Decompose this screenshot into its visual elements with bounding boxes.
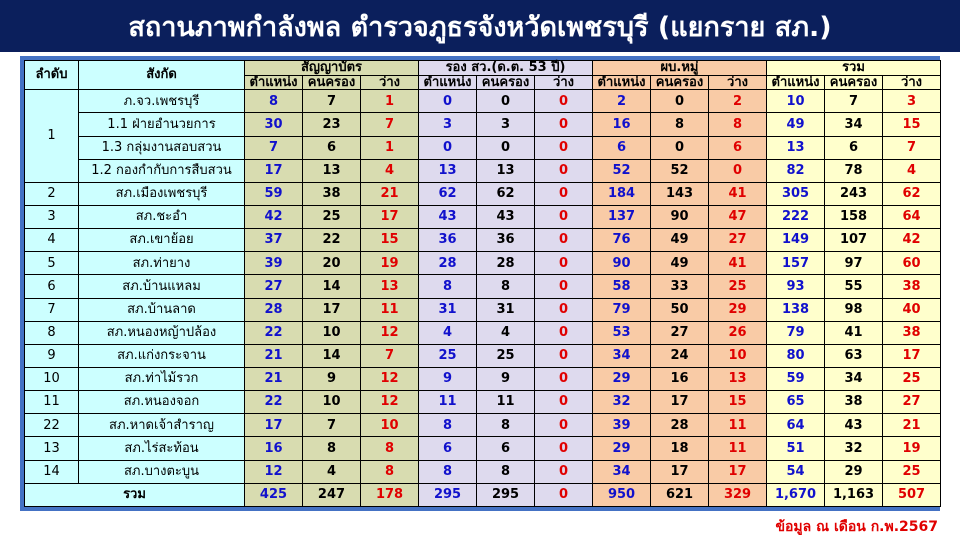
total-rong-held: 295 xyxy=(477,483,535,506)
cell-value: 22 xyxy=(322,232,340,247)
header-name: สังกัด xyxy=(79,61,245,90)
table-row: 11สภ.หนองจอก22101211110321715653827 xyxy=(25,391,941,414)
cell-phbmu-position: 34 xyxy=(593,460,651,483)
cell-value: 27 xyxy=(670,325,688,340)
cell-value: 1,670 xyxy=(775,487,816,502)
cell-value: 26 xyxy=(728,325,746,340)
cell-phbmu-held: 28 xyxy=(651,414,709,437)
cell-phbmu-position: 39 xyxy=(593,414,651,437)
cell-sanya-vacant: 19 xyxy=(361,252,419,275)
cell-value: 62 xyxy=(496,186,514,201)
cell-ruam-position: 10 xyxy=(767,90,825,113)
cell-ruam-vacant: 19 xyxy=(883,437,941,460)
cell-value: 20 xyxy=(322,256,340,271)
cell-rong-vacant: 0 xyxy=(535,205,593,228)
row-index-cell: 7 xyxy=(25,298,79,321)
cell-phbmu-held: 49 xyxy=(651,229,709,252)
cell-value: 10 xyxy=(380,418,398,433)
cell-value: 2 xyxy=(733,94,742,109)
cell-sanya-position: 12 xyxy=(245,460,303,483)
cell-ruam-vacant: 4 xyxy=(883,159,941,182)
cell-rong-held: 9 xyxy=(477,367,535,390)
cell-rong-vacant: 0 xyxy=(535,367,593,390)
cell-rong-vacant: 0 xyxy=(535,321,593,344)
header-sub-held-commissioned: คนครอง xyxy=(303,75,361,90)
cell-ruam-position: 49 xyxy=(767,113,825,136)
cell-value: 3 xyxy=(907,94,916,109)
total-phbmu-held: 621 xyxy=(651,483,709,506)
cell-value: 40 xyxy=(902,302,920,317)
cell-value: 64 xyxy=(786,418,804,433)
total-ruam-vacant: 507 xyxy=(883,483,941,506)
row-unit-name: 1.2 กองกำกับการสืบสวน xyxy=(79,159,245,182)
cell-sanya-vacant: 10 xyxy=(361,414,419,437)
header-row-groups: ลำดับ สังกัด สัญญาบัตร รอง สว.(ด.ต. 53 ป… xyxy=(25,61,941,76)
cell-value: 27 xyxy=(264,279,282,294)
table-row: 1.3 กลุ่มงานสอบสวน7610006061367 xyxy=(25,136,941,159)
cell-sanya-vacant: 1 xyxy=(361,136,419,159)
cell-rong-position: 0 xyxy=(419,136,477,159)
total-ruam-position: 1,670 xyxy=(767,483,825,506)
cell-rong-vacant: 0 xyxy=(535,414,593,437)
cell-value: 6 xyxy=(849,140,858,155)
table-row: 6สภ.บ้านแหลม271413880583325935538 xyxy=(25,275,941,298)
cell-value: 31 xyxy=(438,302,456,317)
cell-value: 60 xyxy=(902,256,920,271)
cell-value: 0 xyxy=(559,302,568,317)
cell-ruam-held: 63 xyxy=(825,344,883,367)
cell-value: 17 xyxy=(670,464,688,479)
cell-value: 25 xyxy=(322,209,340,224)
cell-value: 3 xyxy=(443,117,452,132)
cell-sanya-held: 14 xyxy=(303,344,361,367)
cell-value: 38 xyxy=(322,186,340,201)
table-row: 4สภ.เขาย้อย3722153636076492714910742 xyxy=(25,229,941,252)
cell-value: 11 xyxy=(728,418,746,433)
page-title: สถานภาพกำลังพล ตำรวจภูธรจังหวัดเพชรบุรี … xyxy=(128,5,831,48)
table-row: 1ภ.จว.เพชรบุรี8710002021073 xyxy=(25,90,941,113)
cell-ruam-held: 6 xyxy=(825,136,883,159)
cell-phbmu-position: 53 xyxy=(593,321,651,344)
header-sub-vacant-deputy: ว่าง xyxy=(535,75,593,90)
cell-rong-position: 36 xyxy=(419,229,477,252)
cell-sanya-vacant: 4 xyxy=(361,159,419,182)
cell-phbmu-vacant: 25 xyxy=(709,275,767,298)
table-row: 2สภ.เมืองเพชรบุรี59382162620184143413052… xyxy=(25,182,941,205)
cell-value: 8 xyxy=(327,441,336,456)
cell-value: 7 xyxy=(385,117,394,132)
cell-ruam-held: 29 xyxy=(825,460,883,483)
cell-value: 43 xyxy=(844,418,862,433)
cell-sanya-position: 59 xyxy=(245,182,303,205)
cell-sanya-position: 28 xyxy=(245,298,303,321)
cell-value: 157 xyxy=(782,256,809,271)
cell-sanya-held: 4 xyxy=(303,460,361,483)
cell-sanya-held: 17 xyxy=(303,298,361,321)
cell-value: 79 xyxy=(786,325,804,340)
cell-value: 184 xyxy=(608,186,635,201)
cell-value: 0 xyxy=(501,140,510,155)
cell-rong-held: 11 xyxy=(477,391,535,414)
cell-value: 243 xyxy=(840,186,867,201)
cell-ruam-vacant: 38 xyxy=(883,275,941,298)
cell-value: 42 xyxy=(264,209,282,224)
cell-value: 42 xyxy=(902,232,920,247)
cell-value: 29 xyxy=(612,371,630,386)
cell-ruam-held: 38 xyxy=(825,391,883,414)
cell-rong-position: 8 xyxy=(419,414,477,437)
cell-value: 50 xyxy=(670,302,688,317)
cell-ruam-vacant: 38 xyxy=(883,321,941,344)
cell-rong-held: 31 xyxy=(477,298,535,321)
cell-value: 36 xyxy=(438,232,456,247)
cell-value: 10 xyxy=(786,94,804,109)
cell-value: 295 xyxy=(434,487,461,502)
cell-value: 0 xyxy=(559,94,568,109)
row-index-cell: 11 xyxy=(25,391,79,414)
cell-ruam-position: 54 xyxy=(767,460,825,483)
total-ruam-held: 1,163 xyxy=(825,483,883,506)
cell-value: 7 xyxy=(269,140,278,155)
cell-phbmu-vacant: 11 xyxy=(709,414,767,437)
cell-phbmu-held: 49 xyxy=(651,252,709,275)
table-row: 5สภ.ท่ายาง392019282809049411579760 xyxy=(25,252,941,275)
cell-ruam-vacant: 60 xyxy=(883,252,941,275)
cell-value: 93 xyxy=(786,279,804,294)
cell-value: 54 xyxy=(786,464,804,479)
total-sanya-position: 425 xyxy=(245,483,303,506)
row-index-cell: 2 xyxy=(25,182,79,205)
cell-value: 425 xyxy=(260,487,287,502)
cell-ruam-position: 13 xyxy=(767,136,825,159)
cell-sanya-held: 22 xyxy=(303,229,361,252)
cell-rong-vacant: 0 xyxy=(535,229,593,252)
cell-sanya-position: 37 xyxy=(245,229,303,252)
table-row: 13สภ.ไร่สะท้อน1688660291811513219 xyxy=(25,437,941,460)
cell-value: 7 xyxy=(849,94,858,109)
cell-value: 12 xyxy=(380,371,398,386)
cell-value: 34 xyxy=(844,117,862,132)
cell-value: 27 xyxy=(728,232,746,247)
cell-value: 28 xyxy=(438,256,456,271)
cell-value: 6 xyxy=(733,140,742,155)
cell-sanya-position: 22 xyxy=(245,391,303,414)
cell-sanya-held: 10 xyxy=(303,321,361,344)
cell-value: 19 xyxy=(902,441,920,456)
row-unit-name: 1.1 ฝ่ายอำนวยการ xyxy=(79,113,245,136)
row-index-cell: 10 xyxy=(25,367,79,390)
cell-rong-position: 0 xyxy=(419,90,477,113)
table-header: ลำดับ สังกัด สัญญาบัตร รอง สว.(ด.ต. 53 ป… xyxy=(25,61,941,90)
row-index-cell: 5 xyxy=(25,252,79,275)
cell-sanya-vacant: 21 xyxy=(361,182,419,205)
table-body: 1ภ.จว.เพชรบุรี87100020210731.1 ฝ่ายอำนวย… xyxy=(25,90,941,507)
cell-value: 79 xyxy=(612,302,630,317)
cell-sanya-position: 22 xyxy=(245,321,303,344)
cell-value: 6 xyxy=(501,441,510,456)
header-group-commissioned: สัญญาบัตร xyxy=(245,61,419,76)
cell-value: 4 xyxy=(443,325,452,340)
cell-rong-vacant: 0 xyxy=(535,90,593,113)
cell-value: 8 xyxy=(385,441,394,456)
cell-rong-vacant: 0 xyxy=(535,275,593,298)
cell-rong-position: 13 xyxy=(419,159,477,182)
cell-value: 28 xyxy=(496,256,514,271)
cell-sanya-position: 21 xyxy=(245,344,303,367)
cell-value: 9 xyxy=(501,371,510,386)
table-row: 22สภ.หาดเจ้าสำราญ17710880392811644321 xyxy=(25,414,941,437)
cell-phbmu-held: 17 xyxy=(651,391,709,414)
cell-phbmu-held: 52 xyxy=(651,159,709,182)
cell-phbmu-vacant: 13 xyxy=(709,367,767,390)
cell-value: 33 xyxy=(670,279,688,294)
cell-ruam-held: 34 xyxy=(825,113,883,136)
cell-value: 49 xyxy=(670,232,688,247)
cell-phbmu-held: 50 xyxy=(651,298,709,321)
cell-value: 15 xyxy=(902,117,920,132)
cell-ruam-vacant: 7 xyxy=(883,136,941,159)
cell-value: 25 xyxy=(728,279,746,294)
cell-value: 14 xyxy=(322,348,340,363)
cell-value: 16 xyxy=(670,371,688,386)
cell-ruam-position: 222 xyxy=(767,205,825,228)
cell-rong-vacant: 0 xyxy=(535,182,593,205)
table-row: 1.2 กองกำกับการสืบสวน1713413130525208278… xyxy=(25,159,941,182)
cell-value: 38 xyxy=(902,325,920,340)
total-label: รวม xyxy=(25,483,245,506)
cell-value: 62 xyxy=(438,186,456,201)
cell-rong-held: 8 xyxy=(477,460,535,483)
cell-ruam-held: 55 xyxy=(825,275,883,298)
row-unit-name: สภ.แก่งกระจาน xyxy=(79,344,245,367)
cell-value: 27 xyxy=(902,394,920,409)
cell-rong-held: 3 xyxy=(477,113,535,136)
cell-value: 55 xyxy=(844,279,862,294)
cell-value: 34 xyxy=(612,464,630,479)
cell-value: 52 xyxy=(670,163,688,178)
cell-phbmu-vacant: 0 xyxy=(709,159,767,182)
cell-value: 80 xyxy=(786,348,804,363)
cell-sanya-position: 39 xyxy=(245,252,303,275)
cell-value: 58 xyxy=(612,279,630,294)
cell-phbmu-held: 18 xyxy=(651,437,709,460)
cell-value: 4 xyxy=(385,163,394,178)
cell-value: 25 xyxy=(438,348,456,363)
cell-rong-position: 8 xyxy=(419,460,477,483)
cell-rong-vacant: 0 xyxy=(535,391,593,414)
title-banner: สถานภาพกำลังพล ตำรวจภูธรจังหวัดเพชรบุรี … xyxy=(0,0,960,52)
cell-value: 17 xyxy=(264,418,282,433)
cell-value: 43 xyxy=(496,209,514,224)
cell-rong-held: 0 xyxy=(477,136,535,159)
cell-ruam-position: 93 xyxy=(767,275,825,298)
cell-value: 0 xyxy=(559,418,568,433)
cell-phbmu-vacant: 8 xyxy=(709,113,767,136)
cell-phbmu-held: 8 xyxy=(651,113,709,136)
header-sub-held-total: คนครอง xyxy=(825,75,883,90)
cell-rong-position: 4 xyxy=(419,321,477,344)
cell-value: 1 xyxy=(385,140,394,155)
cell-phbmu-vacant: 10 xyxy=(709,344,767,367)
cell-phbmu-held: 24 xyxy=(651,344,709,367)
total-rong-position: 295 xyxy=(419,483,477,506)
cell-rong-held: 6 xyxy=(477,437,535,460)
row-index-cell: 14 xyxy=(25,460,79,483)
cell-sanya-vacant: 13 xyxy=(361,275,419,298)
cell-sanya-position: 21 xyxy=(245,367,303,390)
cell-value: 4 xyxy=(907,163,916,178)
cell-sanya-vacant: 12 xyxy=(361,321,419,344)
personnel-table: ลำดับ สังกัด สัญญาบัตร รอง สว.(ด.ต. 53 ป… xyxy=(24,60,941,507)
cell-phbmu-held: 27 xyxy=(651,321,709,344)
cell-sanya-position: 27 xyxy=(245,275,303,298)
cell-value: 10 xyxy=(322,325,340,340)
cell-sanya-position: 16 xyxy=(245,437,303,460)
cell-phbmu-vacant: 29 xyxy=(709,298,767,321)
cell-phbmu-position: 76 xyxy=(593,229,651,252)
cell-rong-held: 28 xyxy=(477,252,535,275)
cell-rong-held: 36 xyxy=(477,229,535,252)
cell-rong-held: 8 xyxy=(477,275,535,298)
cell-rong-position: 6 xyxy=(419,437,477,460)
cell-sanya-position: 17 xyxy=(245,414,303,437)
cell-phbmu-position: 6 xyxy=(593,136,651,159)
cell-value: 0 xyxy=(559,209,568,224)
cell-value: 49 xyxy=(670,256,688,271)
cell-ruam-position: 65 xyxy=(767,391,825,414)
cell-value: 21 xyxy=(264,348,282,363)
cell-ruam-vacant: 40 xyxy=(883,298,941,321)
cell-value: 38 xyxy=(844,394,862,409)
cell-value: 507 xyxy=(898,487,925,502)
row-unit-name: สภ.บางตะบูน xyxy=(79,460,245,483)
table-row: 10สภ.ท่าไม้รวก21912990291613593425 xyxy=(25,367,941,390)
cell-value: 9 xyxy=(443,371,452,386)
cell-value: 15 xyxy=(728,394,746,409)
cell-rong-vacant: 0 xyxy=(535,460,593,483)
cell-ruam-vacant: 27 xyxy=(883,391,941,414)
cell-value: 59 xyxy=(786,371,804,386)
row-index-cell: 8 xyxy=(25,321,79,344)
cell-value: 0 xyxy=(501,94,510,109)
cell-ruam-held: 7 xyxy=(825,90,883,113)
cell-value: 59 xyxy=(264,186,282,201)
cell-rong-vacant: 0 xyxy=(535,437,593,460)
cell-sanya-held: 13 xyxy=(303,159,361,182)
row-index-cell: 22 xyxy=(25,414,79,437)
cell-value: 28 xyxy=(264,302,282,317)
cell-value: 39 xyxy=(264,256,282,271)
cell-sanya-vacant: 8 xyxy=(361,437,419,460)
cell-sanya-position: 42 xyxy=(245,205,303,228)
row-unit-name: สภ.ไร่สะท้อน xyxy=(79,437,245,460)
cell-rong-position: 11 xyxy=(419,391,477,414)
cell-value: 22 xyxy=(264,394,282,409)
cell-value: 8 xyxy=(385,464,394,479)
cell-value: 17 xyxy=(322,302,340,317)
cell-value: 64 xyxy=(902,209,920,224)
cell-sanya-held: 10 xyxy=(303,391,361,414)
cell-value: 0 xyxy=(559,163,568,178)
cell-value: 17 xyxy=(380,209,398,224)
cell-value: 90 xyxy=(670,209,688,224)
cell-value: 41 xyxy=(728,256,746,271)
cell-rong-held: 4 xyxy=(477,321,535,344)
cell-value: 98 xyxy=(844,302,862,317)
cell-value: 0 xyxy=(675,140,684,155)
cell-phbmu-position: 52 xyxy=(593,159,651,182)
table-row: 7สภ.บ้านลาด281711313107950291389840 xyxy=(25,298,941,321)
total-phbmu-vacant: 329 xyxy=(709,483,767,506)
cell-phbmu-vacant: 41 xyxy=(709,182,767,205)
cell-sanya-vacant: 12 xyxy=(361,367,419,390)
cell-value: 29 xyxy=(728,302,746,317)
row-unit-name: ภ.จว.เพชรบุรี xyxy=(79,90,245,113)
header-sub-vacant-commissioned: ว่าง xyxy=(361,75,419,90)
cell-phbmu-vacant: 11 xyxy=(709,437,767,460)
cell-value: 149 xyxy=(782,232,809,247)
total-rong-vacant: 0 xyxy=(535,483,593,506)
cell-value: 17 xyxy=(670,394,688,409)
header-sub-vacant-total: ว่าง xyxy=(883,75,941,90)
cell-value: 36 xyxy=(496,232,514,247)
cell-value: 41 xyxy=(728,186,746,201)
cell-value: 21 xyxy=(380,186,398,201)
cell-rong-position: 31 xyxy=(419,298,477,321)
header-sub-position-total: ตำแหน่ง xyxy=(767,75,825,90)
cell-ruam-held: 158 xyxy=(825,205,883,228)
cell-value: 47 xyxy=(728,209,746,224)
cell-value: 17 xyxy=(902,348,920,363)
row-unit-name: สภ.หนองจอก xyxy=(79,391,245,414)
row-index-cell: 13 xyxy=(25,437,79,460)
header-sub-position-squad: ตำแหน่ง xyxy=(593,75,651,90)
cell-ruam-vacant: 42 xyxy=(883,229,941,252)
cell-phbmu-vacant: 17 xyxy=(709,460,767,483)
cell-value: 11 xyxy=(496,394,514,409)
cell-ruam-vacant: 25 xyxy=(883,460,941,483)
cell-phbmu-vacant: 6 xyxy=(709,136,767,159)
cell-ruam-held: 43 xyxy=(825,414,883,437)
cell-value: 13 xyxy=(322,163,340,178)
cell-phbmu-position: 137 xyxy=(593,205,651,228)
cell-value: 305 xyxy=(782,186,809,201)
total-sanya-vacant: 178 xyxy=(361,483,419,506)
cell-value: 13 xyxy=(786,140,804,155)
cell-sanya-held: 8 xyxy=(303,437,361,460)
cell-phbmu-vacant: 15 xyxy=(709,391,767,414)
cell-sanya-vacant: 11 xyxy=(361,298,419,321)
cell-value: 0 xyxy=(733,163,742,178)
row-unit-name: สภ.ท่าไม้รวก xyxy=(79,367,245,390)
cell-ruam-position: 305 xyxy=(767,182,825,205)
cell-value: 7 xyxy=(327,418,336,433)
cell-ruam-held: 32 xyxy=(825,437,883,460)
cell-value: 25 xyxy=(902,371,920,386)
cell-value: 21 xyxy=(902,418,920,433)
cell-value: 9 xyxy=(327,371,336,386)
cell-value: 11 xyxy=(380,302,398,317)
cell-value: 222 xyxy=(782,209,809,224)
cell-value: 34 xyxy=(844,371,862,386)
cell-value: 97 xyxy=(844,256,862,271)
cell-value: 38 xyxy=(902,279,920,294)
row-index-cell: 6 xyxy=(25,275,79,298)
cell-sanya-position: 17 xyxy=(245,159,303,182)
row-unit-name: สภ.เมืองเพชรบุรี xyxy=(79,182,245,205)
cell-value: 0 xyxy=(559,256,568,271)
row-index-cell: 9 xyxy=(25,344,79,367)
